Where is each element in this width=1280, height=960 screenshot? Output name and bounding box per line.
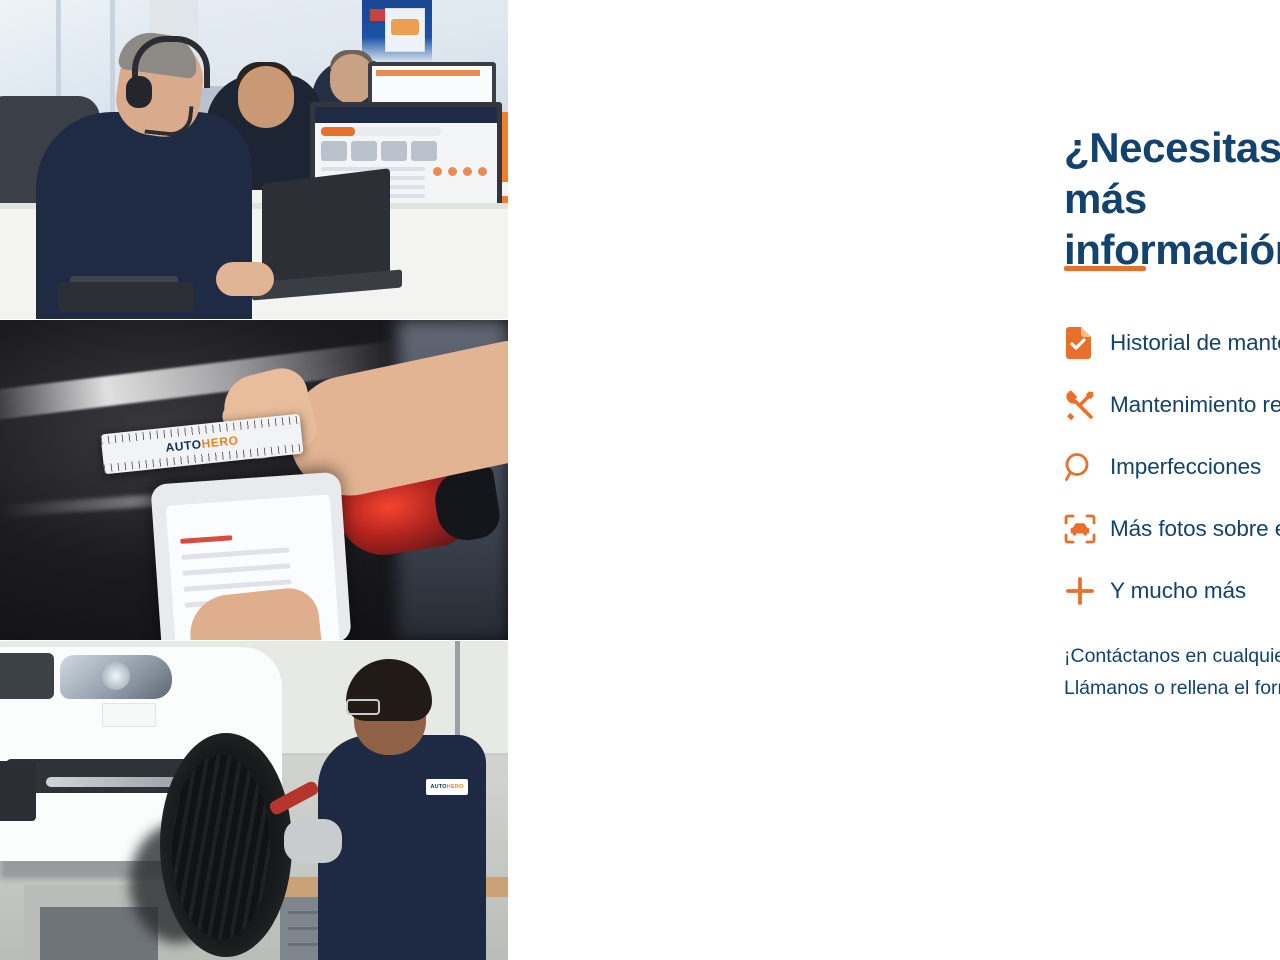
feature-item-more-photos: Más fotos sobre el coche <box>1064 498 1280 560</box>
tablet-on-desk <box>58 282 194 312</box>
promo-page: AUTOHERO <box>0 0 1280 960</box>
page-title-line-1: ¿Necesitas <box>1064 124 1280 171</box>
feature-label: Mantenimiento realizado <box>1110 392 1280 418</box>
page-title: ¿Necesitas más información? <box>1064 122 1280 276</box>
workshop-wheel-check-photo: AUTOHERO <box>0 640 508 960</box>
technician-glasses <box>346 699 380 715</box>
car-chrome-trim <box>46 777 186 787</box>
feature-label: Imperfecciones <box>1110 454 1261 480</box>
contact-line-1: ¡Contáctanos en cualquier momento para m… <box>1064 641 1280 673</box>
call-center-agents-photo <box>0 0 508 319</box>
license-plate-area <box>102 703 156 727</box>
feature-label: Historial de mantenimientos <box>1110 330 1280 356</box>
car-headlight <box>60 655 172 699</box>
document-check-icon <box>1064 327 1110 359</box>
photo-column: AUTOHERO <box>0 0 508 960</box>
plus-icon <box>1064 575 1110 607</box>
magnifier-icon <box>1064 452 1110 482</box>
monitor-header-bar <box>315 107 497 123</box>
title-divider <box>1064 266 1146 271</box>
feature-list: Historial de mantenimientos Mantenimient… <box>1064 312 1280 622</box>
contact-text: ¡Contáctanos en cualquier momento para m… <box>1064 641 1280 704</box>
monitor-status-icons <box>433 167 487 176</box>
technician-body <box>318 735 486 960</box>
feature-label: Más fotos sobre el coche <box>1110 516 1280 542</box>
car-photo-frame-icon <box>1064 514 1110 544</box>
page-title-line-2: más información? <box>1064 173 1280 275</box>
tools-wrench-screwdriver-icon <box>1064 389 1110 421</box>
agent-1-hand <box>216 262 274 296</box>
agent-2-head <box>238 66 294 128</box>
wall-poster <box>385 8 425 52</box>
feature-item-maintenance-done: Mantenimiento realizado <box>1064 374 1280 436</box>
technician-glove <box>284 819 342 863</box>
monitor-progress-fill <box>321 127 355 136</box>
feature-label: Y mucho más <box>1110 578 1246 604</box>
car-tyre <box>160 733 292 957</box>
autohero-measuring-ruler: AUTOHERO <box>100 414 303 475</box>
car-grille-upper <box>0 653 54 699</box>
monitor-car-thumbnails <box>321 141 437 161</box>
autohero-shirt-badge: AUTOHERO <box>426 779 468 795</box>
feature-item-imperfections: Imperfecciones <box>1064 436 1280 498</box>
content-panel: ¿Necesitas más información? Estamos enca… <box>508 0 1280 960</box>
feature-item-much-more: Y mucho más <box>1064 560 1280 622</box>
feature-item-maintenance-history: Historial de mantenimientos <box>1064 312 1280 374</box>
car-inspection-ruler-photo: AUTOHERO <box>0 319 508 639</box>
car-grille-lower <box>0 761 36 821</box>
contact-line-2: Llámanos o rellena el formulario de cont… <box>1064 673 1280 705</box>
